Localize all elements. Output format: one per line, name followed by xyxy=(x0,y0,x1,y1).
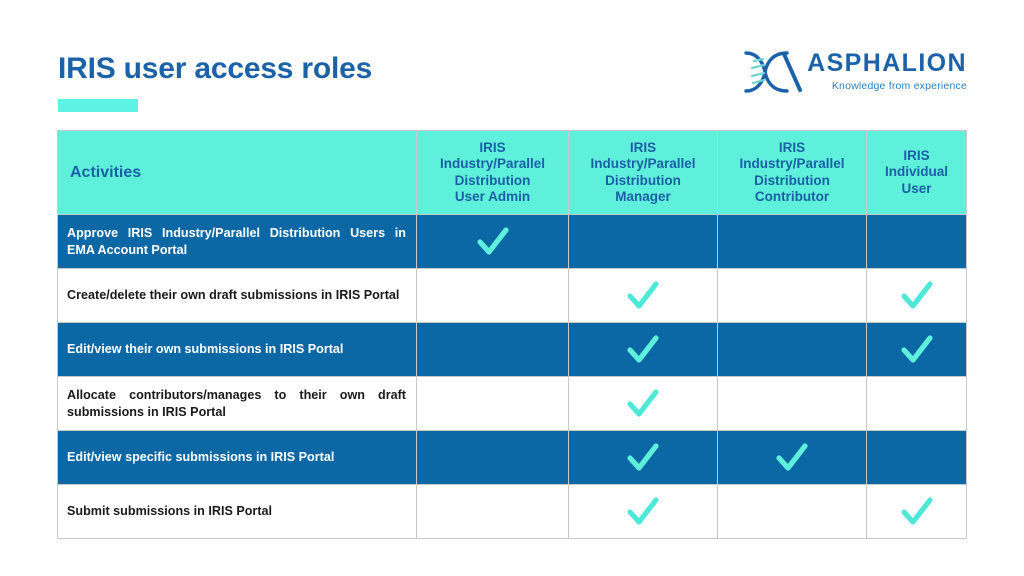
table-header-row: Activities IRIS Industry/Parallel Distri… xyxy=(58,131,967,215)
activity-label: Submit submissions in IRIS Portal xyxy=(58,485,417,539)
page-title: IRIS user access roles xyxy=(58,52,372,86)
column-header-contributor: IRIS Industry/Parallel Distribution Cont… xyxy=(718,131,867,215)
cell-contributor xyxy=(718,269,867,323)
cell-individual-user xyxy=(867,485,967,539)
check-icon xyxy=(476,227,510,257)
brand-logo: ASPHALION Knowledge from experience xyxy=(743,50,967,94)
header-line: User xyxy=(901,181,931,196)
cell-contributor xyxy=(718,215,867,269)
check-icon xyxy=(775,443,809,473)
header-line: IRIS xyxy=(479,140,505,155)
check-icon xyxy=(900,335,934,365)
table-header: Activities IRIS Industry/Parallel Distri… xyxy=(58,131,967,215)
iris-roles-table: Activities IRIS Industry/Parallel Distri… xyxy=(57,130,967,539)
check-icon xyxy=(626,335,660,365)
table-row: Edit/view their own submissions in IRIS … xyxy=(58,323,967,377)
header-line: Distribution xyxy=(605,173,681,188)
table-row: Submit submissions in IRIS Portal xyxy=(58,485,967,539)
header-line: Industry/Parallel xyxy=(739,156,844,171)
table-body: Approve IRIS Industry/Parallel Distribut… xyxy=(58,215,967,539)
cell-contributor xyxy=(718,377,867,431)
cell-user-admin xyxy=(417,215,569,269)
header-line: IRIS xyxy=(903,148,929,163)
cell-user-admin xyxy=(417,431,569,485)
cell-manager xyxy=(569,323,718,377)
cell-individual-user xyxy=(867,215,967,269)
activity-label: Edit/view specific submissions in IRIS P… xyxy=(58,431,417,485)
header-line: Individual xyxy=(885,164,948,179)
header-line: Manager xyxy=(615,189,671,204)
cell-user-admin xyxy=(417,269,569,323)
column-header-activities: Activities xyxy=(58,131,417,215)
column-header-user-admin: IRIS Industry/Parallel Distribution User… xyxy=(417,131,569,215)
activity-label: Edit/view their own submissions in IRIS … xyxy=(58,323,417,377)
column-header-manager: IRIS Industry/Parallel Distribution Mana… xyxy=(569,131,718,215)
header-line: Contributor xyxy=(755,189,829,204)
cell-individual-user xyxy=(867,269,967,323)
cell-individual-user xyxy=(867,431,967,485)
check-icon xyxy=(626,497,660,527)
cell-user-admin xyxy=(417,485,569,539)
table-row: Allocate contributors/manages to their o… xyxy=(58,377,967,431)
table-row: Approve IRIS Industry/Parallel Distribut… xyxy=(58,215,967,269)
slide-header: IRIS user access roles ASPHALION Knowled… xyxy=(0,0,1024,128)
header-line: Industry/Parallel xyxy=(440,156,545,171)
header-line: Distribution xyxy=(455,173,531,188)
cell-contributor xyxy=(718,485,867,539)
activity-label: Create/delete their own draft submission… xyxy=(58,269,417,323)
check-icon xyxy=(626,443,660,473)
check-icon xyxy=(900,497,934,527)
cell-contributor xyxy=(718,431,867,485)
title-accent-bar xyxy=(58,99,138,112)
cell-user-admin xyxy=(417,323,569,377)
header-line: User Admin xyxy=(455,189,530,204)
cell-manager xyxy=(569,485,718,539)
cell-manager xyxy=(569,377,718,431)
header-line: Distribution xyxy=(754,173,830,188)
cell-contributor xyxy=(718,323,867,377)
header-line: IRIS xyxy=(630,140,656,155)
dna-helix-icon xyxy=(743,50,805,94)
check-icon xyxy=(626,281,660,311)
activity-label: Allocate contributors/manages to their o… xyxy=(58,377,417,431)
header-line: Industry/Parallel xyxy=(590,156,695,171)
cell-individual-user xyxy=(867,323,967,377)
brand-name: ASPHALION xyxy=(807,51,967,76)
column-header-individual-user: IRIS Individual User xyxy=(867,131,967,215)
check-icon xyxy=(900,281,934,311)
activity-label: Approve IRIS Industry/Parallel Distribut… xyxy=(58,215,417,269)
cell-manager xyxy=(569,269,718,323)
cell-manager xyxy=(569,215,718,269)
check-icon xyxy=(626,389,660,419)
table-row: Create/delete their own draft submission… xyxy=(58,269,967,323)
cell-individual-user xyxy=(867,377,967,431)
table-row: Edit/view specific submissions in IRIS P… xyxy=(58,431,967,485)
cell-user-admin xyxy=(417,377,569,431)
brand-wordmark: ASPHALION Knowledge from experience xyxy=(807,51,967,94)
brand-tagline: Knowledge from experience xyxy=(832,81,967,92)
cell-manager xyxy=(569,431,718,485)
header-line: IRIS xyxy=(779,140,805,155)
